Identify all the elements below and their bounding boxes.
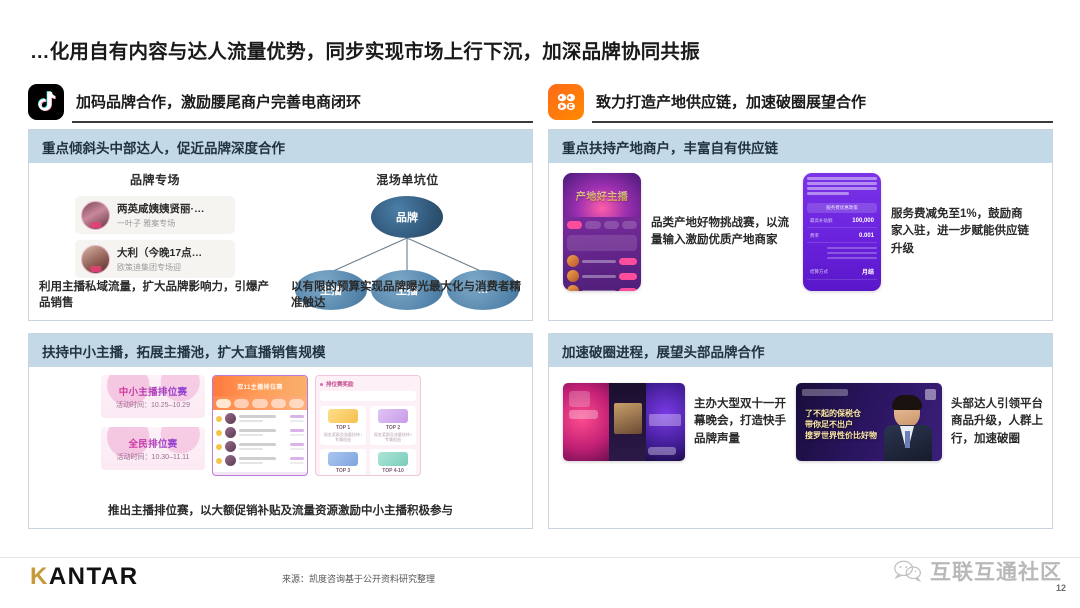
row-value: 100,000 bbox=[852, 218, 874, 224]
avatar bbox=[225, 441, 236, 452]
table-row bbox=[216, 455, 304, 466]
tab[interactable] bbox=[567, 221, 582, 229]
row-value: 0.001 bbox=[859, 233, 874, 239]
leaderboard-tabs bbox=[213, 396, 307, 410]
panel-body: 主办大型双十一开幕晚会，打造快手品牌声量 了不起的保税仓 带你足不出户 搜罗世界… bbox=[549, 367, 1052, 528]
phone-mockup-fee-policy: 服务费优惠政策 最高补贴额 100,000 费率 0.001 bbox=[803, 173, 881, 291]
reward-tier: TOP 1 现金奖励及流量扶持 / 专属权益 bbox=[320, 406, 366, 445]
table-row bbox=[216, 441, 304, 452]
list-item-subtitle: 欧策迪集团专场迎 bbox=[117, 262, 202, 273]
mockup-tabs bbox=[563, 217, 641, 233]
supply-item: 产地好主播 bbox=[563, 173, 791, 291]
row-value: 月结 bbox=[862, 267, 874, 276]
ranking-card[interactable]: 中小主播排位赛 活动时间：10.25–10.29 bbox=[101, 375, 205, 418]
thumbnail-gala bbox=[563, 383, 685, 461]
kantar-logo-k: K bbox=[30, 563, 49, 590]
brand-item-text: 头部达人引领平台商品升级，人群上行，加速破圈 bbox=[951, 396, 1043, 448]
leaderboard-banner-text: 双11主播排位赛 bbox=[237, 382, 283, 391]
list-item-title: 大利（今晚17点… bbox=[117, 245, 202, 260]
tab[interactable] bbox=[604, 221, 619, 229]
ranking-card-title: 中小主播排位赛 bbox=[119, 384, 188, 398]
leaderboard-rows bbox=[213, 410, 307, 472]
trophy-icon bbox=[328, 452, 357, 466]
ranking-card[interactable]: 全民排位赛 活动时间：10.30–11.11 bbox=[101, 427, 205, 470]
mockup-footnotes bbox=[807, 247, 877, 259]
panel-kuaishou-supply: 重点扶持产地商户，丰富自有供应链 产地好主播 bbox=[548, 129, 1053, 321]
table-row: 结算方式 月结 bbox=[807, 262, 877, 280]
watermark-text: 互联互通社区 bbox=[930, 556, 1062, 586]
panel-body: 产地好主播 bbox=[549, 163, 1052, 320]
tab[interactable] bbox=[252, 399, 267, 408]
reward-tier-sub: 现金奖励及流量扶持 / 专属权益 bbox=[322, 475, 364, 476]
list-item[interactable]: 两英咸姨姨贤丽·… 一叶子 雅案专场 bbox=[75, 196, 235, 234]
avatar bbox=[81, 201, 110, 230]
list-item bbox=[567, 285, 637, 291]
watermark: 互联互通社区 bbox=[893, 556, 1062, 586]
row-key: 最高补贴额 bbox=[810, 218, 833, 224]
column-heading-text: 加码品牌合作，激励腰尾商户完善电商闭环 bbox=[76, 91, 361, 112]
ranking-card-title: 全民排位赛 bbox=[128, 436, 177, 450]
watermark-bar bbox=[802, 389, 848, 396]
rank-badge-icon bbox=[216, 444, 222, 450]
video-caption: 了不起的保税仓 带你足不出户 搜罗世界性价比好物 bbox=[805, 409, 877, 441]
panel-header: 扶持中小主播，拓展主播池，扩大直播销售规模 bbox=[29, 334, 532, 367]
row-key: 费率 bbox=[810, 233, 819, 239]
list-item-title: 两英咸姨姨贤丽·… bbox=[117, 201, 205, 216]
rank-badge-icon bbox=[216, 416, 222, 422]
leaderboard-banner: 双11主播排位赛 bbox=[213, 376, 307, 396]
reward-tier-sub: 现金奖励及流量扶持 / 专属权益 bbox=[322, 432, 364, 442]
panel-header: 加速破圈进程，展望头部品牌合作 bbox=[549, 334, 1052, 367]
column-header-kuaishou: 致力打造产地供应链，加速破圈展望合作 bbox=[548, 84, 1053, 126]
rewards-header: 排位赛奖励 bbox=[320, 380, 416, 388]
panel-body: 中小主播排位赛 活动时间：10.25–10.29 全民排位赛 活动时间：10.3… bbox=[29, 367, 532, 528]
douyin-icon bbox=[28, 84, 64, 120]
streamer-mockup-row: 中小主播排位赛 活动时间：10.25–10.29 全民排位赛 活动时间：10.3… bbox=[101, 375, 421, 476]
rewards-mockup: 排位赛奖励 TOP 1 现金奖励及流量扶持 / 专属权益 TOP 2 bbox=[315, 375, 421, 476]
bullet-icon bbox=[320, 383, 323, 386]
reward-tier: TOP 3 现金奖励及流量扶持 / 专属权益 bbox=[320, 449, 366, 476]
reward-tier-sub: 现金奖励及流量扶持 / 专属权益 bbox=[372, 475, 414, 476]
mockup-banner-text: 产地好主播 bbox=[576, 188, 629, 203]
avatar bbox=[225, 455, 236, 466]
table-row bbox=[216, 413, 304, 424]
panel-douyin-streamers: 扶持中小主播，拓展主播池，扩大直播销售规模 中小主播排位赛 活动时间：10.25… bbox=[28, 333, 533, 529]
column-rule bbox=[72, 121, 533, 123]
tab[interactable] bbox=[234, 399, 249, 408]
thumbnail-bonded-warehouse: 了不起的保税仓 带你足不出户 搜罗世界性价比好物 bbox=[796, 383, 942, 461]
avatar bbox=[567, 270, 579, 282]
list-item bbox=[567, 255, 637, 267]
avatar bbox=[225, 413, 236, 424]
panel-header: 重点扶持产地商户，丰富自有供应链 bbox=[549, 130, 1052, 163]
video-caption-line: 带你足不出户 bbox=[805, 420, 877, 431]
reward-tier-label: TOP 1 bbox=[322, 425, 364, 431]
phone-mockup-origin-streamer: 产地好主播 bbox=[563, 173, 641, 291]
slide-root: …化用自有内容与达人流量优势，同步实现市场上行下沉，加深品牌协同共振 加码品牌合… bbox=[0, 0, 1080, 608]
ranking-cards: 中小主播排位赛 活动时间：10.25–10.29 全民排位赛 活动时间：10.3… bbox=[101, 375, 205, 470]
column-rule bbox=[592, 121, 1053, 123]
panel-kuaishou-brands: 加速破圈进程，展望头部品牌合作 主办大型双十一开幕晚会，打造快手品牌声量 bbox=[548, 333, 1053, 529]
ranking-card-date: 活动时间：10.30–11.11 bbox=[117, 452, 190, 462]
reward-tier-label: TOP 3 bbox=[322, 468, 364, 474]
panel-douyin-creators: 重点倾斜头中部达人，促近品牌深度合作 品牌专场 两英咸姨姨贤丽·… 一叶子 雅案… bbox=[28, 129, 533, 321]
reward-tier-label: TOP 2 bbox=[372, 425, 414, 431]
tab[interactable] bbox=[585, 221, 600, 229]
mixed-slot-title: 混场单坑位 bbox=[281, 171, 534, 188]
page-number: 12 bbox=[1056, 583, 1066, 593]
wechat-icon bbox=[893, 560, 923, 582]
mockup-paragraph bbox=[807, 177, 877, 199]
avatar bbox=[81, 245, 110, 274]
trophy-icon bbox=[378, 409, 407, 423]
supply-items-row: 产地好主播 bbox=[563, 173, 1031, 291]
brand-session-list: 两英咸姨姨贤丽·… 一叶子 雅案专场 大利（今晚17点… 欧策迪集团专场迎 bbox=[75, 196, 235, 278]
reward-tier-label: TOP 4-10 bbox=[372, 468, 414, 474]
brand-item: 了不起的保税仓 带你足不出户 搜罗世界性价比好物 头部达人引领平台商品升级，人群… bbox=[796, 383, 1043, 461]
video-caption-line: 了不起的保税仓 bbox=[805, 409, 877, 420]
rewards-grid: TOP 1 现金奖励及流量扶持 / 专属权益 TOP 2 现金奖励及流量扶持 /… bbox=[320, 406, 416, 476]
brand-items-row: 主办大型双十一开幕晚会，打造快手品牌声量 了不起的保税仓 带你足不出户 搜罗世界… bbox=[563, 383, 1043, 461]
tab[interactable] bbox=[216, 399, 231, 408]
tab[interactable] bbox=[289, 399, 304, 408]
page-title: …化用自有内容与达人流量优势，同步实现市场上行下沉，加深品牌协同共振 bbox=[30, 35, 700, 64]
video-caption-line: 搜罗世界性价比好物 bbox=[805, 431, 877, 442]
mixed-slot-block: 混场单坑位 品牌 主播 主播 … 以有限的预算实现品牌曝光最大化与消费者精准触达 bbox=[281, 163, 534, 320]
caption: 推出主播排位赛，以大额促销补贴及流量资源激励中小主播积极参与 bbox=[39, 503, 522, 520]
avatar bbox=[225, 427, 236, 438]
trophy-icon bbox=[328, 409, 357, 423]
rewards-title: 排位赛奖励 bbox=[326, 380, 354, 388]
reward-tier-sub: 现金奖励及流量扶持 / 专属权益 bbox=[372, 432, 414, 442]
caption-left: 利用主播私域流量，扩大品牌影响力，引爆产品销售 bbox=[39, 279, 271, 312]
kantar-logo-rest: ANTAR bbox=[49, 563, 139, 590]
column-heading-text: 致力打造产地供应链，加速破圈展望合作 bbox=[596, 91, 866, 112]
caption-right: 以有限的预算实现品牌曝光最大化与消费者精准触达 bbox=[291, 279, 524, 312]
brand-session-block: 品牌专场 两英咸姨姨贤丽·… 一叶子 雅案专场 大利（ bbox=[29, 163, 281, 320]
avatar bbox=[567, 255, 579, 267]
mockup-section-title: 服务费优惠政策 bbox=[807, 203, 877, 213]
brand-item: 主办大型双十一开幕晚会，打造快手品牌声量 bbox=[563, 383, 786, 461]
table-row: 费率 0.001 bbox=[807, 228, 877, 243]
list-item-subtitle: 一叶子 雅案专场 bbox=[117, 218, 205, 229]
panel-body: 品牌专场 两英咸姨姨贤丽·… 一叶子 雅案专场 大利（ bbox=[29, 163, 532, 320]
brand-item-text: 主办大型双十一开幕晚会，打造快手品牌声量 bbox=[694, 396, 786, 448]
mockup-section-title-text: 服务费优惠政策 bbox=[826, 205, 858, 211]
mockup-banner: 产地好主播 bbox=[563, 173, 641, 217]
column-douyin: 加码品牌合作，激励腰尾商户完善电商闭环 重点倾斜头中部达人，促近品牌深度合作 品… bbox=[28, 84, 533, 529]
rank-badge-icon bbox=[216, 458, 222, 464]
rank-badge-icon bbox=[216, 430, 222, 436]
mockup-list bbox=[563, 253, 641, 291]
tab[interactable] bbox=[271, 399, 286, 408]
rewards-note bbox=[320, 391, 416, 401]
supply-item-text: 服务费减免至1%，鼓励商家入驻，进一步赋能供应链升级 bbox=[891, 206, 1031, 258]
column-kuaishou: 致力打造产地供应链，加速破圈展望合作 重点扶持产地商户，丰富自有供应链 产地好主… bbox=[548, 84, 1053, 529]
column-header-douyin: 加码品牌合作，激励腰尾商户完善电商闭环 bbox=[28, 84, 533, 126]
brand-session-title: 品牌专场 bbox=[29, 171, 281, 188]
tree-node-root: 品牌 bbox=[371, 196, 443, 238]
list-item[interactable]: 大利（今晚17点… 欧策迪集团专场迎 bbox=[75, 240, 235, 278]
reward-tier: TOP 4-10 现金奖励及流量扶持 / 专属权益 bbox=[370, 449, 416, 476]
kantar-logo: KANTAR bbox=[30, 563, 139, 591]
trophy-icon bbox=[378, 452, 407, 466]
panel-header: 重点倾斜头中部达人，促近品牌深度合作 bbox=[29, 130, 532, 163]
supply-item: 服务费优惠政策 最高补贴额 100,000 费率 0.001 bbox=[803, 173, 1031, 291]
supply-item-text: 品类产地好物挑战赛，以流量输入激励优质产地商家 bbox=[651, 215, 791, 250]
source-note: 来源：凯度咨询基于公开资料研究整理 bbox=[282, 572, 435, 585]
ranking-card-date: 活动时间：10.25–10.29 bbox=[116, 400, 190, 410]
table-row bbox=[216, 427, 304, 438]
row-key: 结算方式 bbox=[810, 269, 828, 275]
table-row: 最高补贴额 100,000 bbox=[807, 213, 877, 228]
kuaishou-icon bbox=[548, 84, 584, 120]
avatar bbox=[567, 285, 579, 291]
presenter-figure bbox=[882, 395, 934, 461]
mockup-card bbox=[567, 235, 637, 251]
tab[interactable] bbox=[622, 221, 637, 229]
reward-tier: TOP 2 现金奖励及流量扶持 / 专属权益 bbox=[370, 406, 416, 445]
leaderboard-mockup: 双11主播排位赛 bbox=[212, 375, 308, 476]
list-item bbox=[567, 270, 637, 282]
